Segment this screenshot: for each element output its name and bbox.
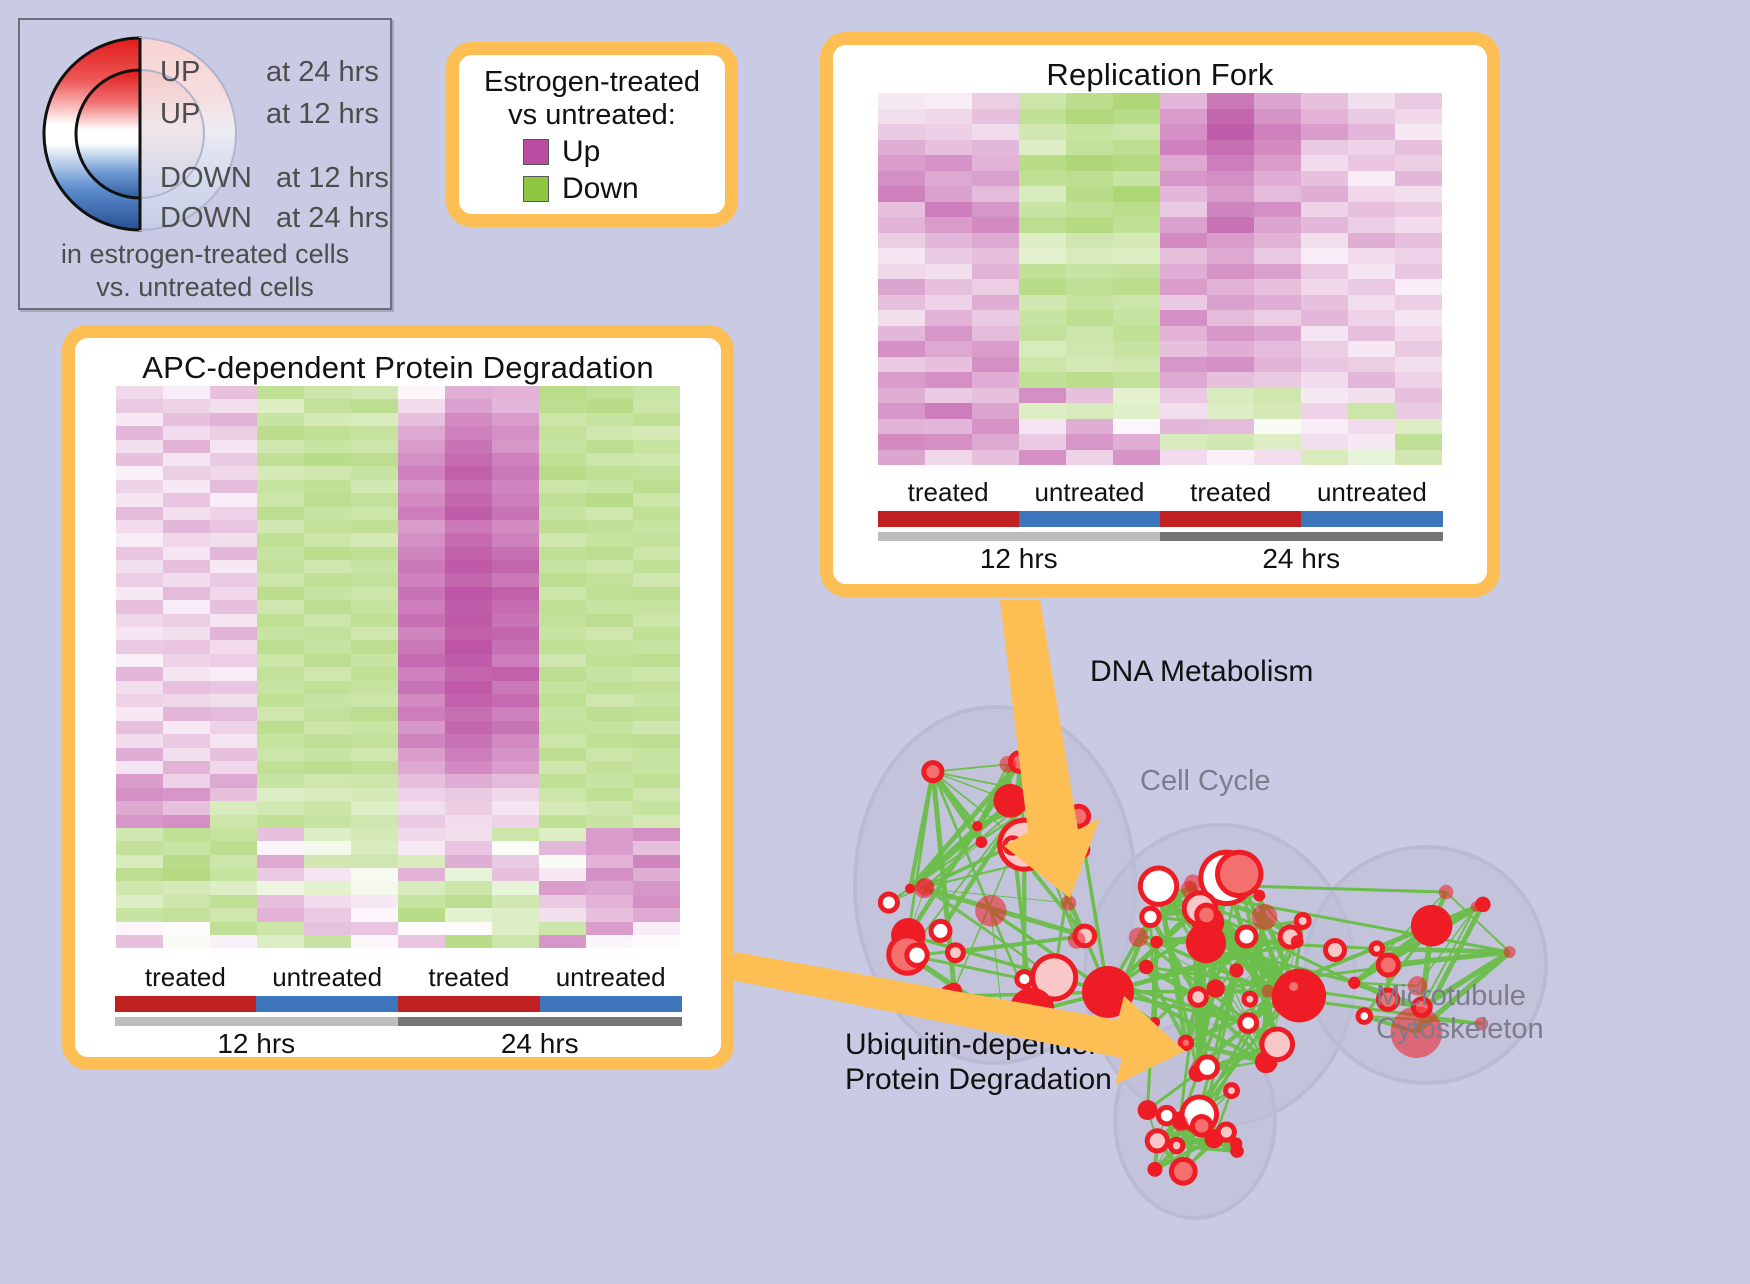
heat-cell xyxy=(586,801,633,814)
heat-cell xyxy=(1301,171,1348,187)
heat-cell xyxy=(304,667,351,680)
key-time-up-12: at 12 hrs xyxy=(266,98,379,131)
heat-cell xyxy=(304,520,351,533)
heat-cell xyxy=(257,573,304,586)
heat-cell xyxy=(878,341,925,357)
heat-cell xyxy=(351,788,398,801)
heat-cell xyxy=(1207,217,1254,233)
heat-cell xyxy=(398,788,445,801)
heat-cell xyxy=(1160,326,1207,342)
network-node-core xyxy=(1221,1126,1232,1137)
heat-cell xyxy=(210,547,257,560)
heat-cell xyxy=(116,774,163,787)
network-node-core xyxy=(1057,815,1068,826)
heat-cell xyxy=(539,614,586,627)
heat-cell xyxy=(116,573,163,586)
heat-cell xyxy=(1019,372,1066,388)
network-node-core xyxy=(883,897,895,909)
heat-cell xyxy=(163,828,210,841)
heat-cell xyxy=(539,573,586,586)
heat-cell xyxy=(163,694,210,707)
heat-cell xyxy=(1066,326,1113,342)
heat-cell xyxy=(1160,295,1207,311)
heat-cell xyxy=(398,399,445,412)
heat-cell xyxy=(163,453,210,466)
heat-cell xyxy=(539,466,586,479)
heat-cell xyxy=(633,841,680,854)
heat-cell xyxy=(539,774,586,787)
heat-cell xyxy=(1019,434,1066,450)
heat-cell xyxy=(304,908,351,921)
heat-cell xyxy=(445,681,492,694)
apc-time-colorbar xyxy=(115,1017,682,1026)
heat-cell xyxy=(925,124,972,140)
heat-cell xyxy=(163,788,210,801)
heat-cell xyxy=(633,654,680,667)
heat-cell xyxy=(1160,93,1207,109)
heat-cell xyxy=(925,279,972,295)
heat-cell xyxy=(1301,264,1348,280)
heat-cell xyxy=(1160,434,1207,450)
heat-cell xyxy=(210,627,257,640)
heat-cell xyxy=(1019,140,1066,156)
heat-cell xyxy=(116,828,163,841)
heat-cell xyxy=(163,774,210,787)
heat-cell xyxy=(492,453,539,466)
heat-cell xyxy=(210,855,257,868)
heat-cell xyxy=(210,520,257,533)
heat-cell xyxy=(539,627,586,640)
heat-cell xyxy=(1207,93,1254,109)
heat-cell xyxy=(878,450,925,466)
heat-cell xyxy=(304,815,351,828)
figure-canvas: UP at 24 hrs UP at 12 hrs DOWN at 12 hrs… xyxy=(0,0,1750,1279)
heat-cell xyxy=(351,426,398,439)
heat-cell xyxy=(1066,171,1113,187)
heat-cell xyxy=(878,186,925,202)
heat-cell xyxy=(257,667,304,680)
heat-cell xyxy=(445,453,492,466)
heat-cell xyxy=(1348,434,1395,450)
heat-cell xyxy=(1395,326,1442,342)
heat-cell xyxy=(351,801,398,814)
heat-cell xyxy=(878,217,925,233)
heat-cell xyxy=(398,681,445,694)
heat-cell xyxy=(445,640,492,653)
heat-cell xyxy=(1395,124,1442,140)
heat-cell xyxy=(304,761,351,774)
heat-cell xyxy=(1207,124,1254,140)
legend-item-down: Down xyxy=(523,172,725,206)
heat-cell xyxy=(210,721,257,734)
heat-cell xyxy=(210,681,257,694)
heat-cell xyxy=(398,922,445,935)
heat-cell xyxy=(116,413,163,426)
heat-cell xyxy=(1348,248,1395,264)
heat-cell xyxy=(210,801,257,814)
heat-cell xyxy=(116,815,163,828)
network-node xyxy=(905,884,915,894)
network-node xyxy=(1149,1017,1160,1028)
heat-cell xyxy=(972,388,1019,404)
key-label-down-12: DOWN xyxy=(160,162,252,195)
heat-cell xyxy=(1254,403,1301,419)
network-node xyxy=(1068,931,1085,948)
heat-cell xyxy=(398,908,445,921)
heat-cell xyxy=(163,841,210,854)
heat-cell xyxy=(163,413,210,426)
heat-cell xyxy=(1348,388,1395,404)
heat-cell xyxy=(492,587,539,600)
heat-cell xyxy=(586,908,633,921)
heat-cell xyxy=(210,587,257,600)
heat-cell xyxy=(1301,403,1348,419)
heat-cell xyxy=(398,466,445,479)
network-node xyxy=(1230,1144,1244,1158)
heat-cell xyxy=(1395,279,1442,295)
heat-cell xyxy=(1348,419,1395,435)
heat-cell xyxy=(1019,202,1066,218)
heat-cell xyxy=(398,440,445,453)
heat-cell xyxy=(351,881,398,894)
heat-cell xyxy=(539,654,586,667)
heat-cell xyxy=(633,426,680,439)
heat-cell xyxy=(398,935,445,948)
heat-cell xyxy=(116,640,163,653)
heat-cell xyxy=(1066,279,1113,295)
heat-cell xyxy=(351,587,398,600)
heat-cell xyxy=(1254,341,1301,357)
heat-cell xyxy=(1395,295,1442,311)
network-node xyxy=(1252,904,1278,930)
heat-cell xyxy=(1207,186,1254,202)
heat-cell xyxy=(1019,295,1066,311)
network-node xyxy=(1129,927,1149,947)
legend-panel: Estrogen-treated vs untreated: Up Down xyxy=(446,42,738,227)
heat-cell xyxy=(972,357,1019,373)
heat-cell xyxy=(304,386,351,399)
network-node xyxy=(1186,923,1226,963)
heat-cell xyxy=(539,815,586,828)
heat-cell xyxy=(304,868,351,881)
heat-cell xyxy=(445,493,492,506)
heat-cell xyxy=(1254,109,1301,125)
heat-cell xyxy=(210,908,257,921)
heat-cell xyxy=(116,533,163,546)
heat-cell xyxy=(972,124,1019,140)
heat-cell xyxy=(351,667,398,680)
heat-cell xyxy=(1113,202,1160,218)
heat-cell xyxy=(539,855,586,868)
heat-cell xyxy=(492,841,539,854)
heat-cell xyxy=(539,507,586,520)
heat-cell xyxy=(539,935,586,948)
heat-cell xyxy=(1019,450,1066,466)
rep-group-label-0: treated xyxy=(878,477,1019,508)
apc-time-label-24: 24 hrs xyxy=(398,1028,682,1060)
heat-cell xyxy=(398,547,445,560)
heat-cell xyxy=(1301,217,1348,233)
network-node xyxy=(1172,1115,1188,1131)
heat-cell xyxy=(1254,124,1301,140)
heat-cell xyxy=(163,801,210,814)
heat-cell xyxy=(351,774,398,787)
heat-cell xyxy=(1066,310,1113,326)
heat-cell xyxy=(304,774,351,787)
apc-group-label-2: treated xyxy=(398,962,540,993)
heat-cell xyxy=(351,922,398,935)
heat-cell xyxy=(1019,109,1066,125)
heat-cell xyxy=(539,908,586,921)
heat-cell xyxy=(445,614,492,627)
heat-cell xyxy=(304,681,351,694)
heat-cell xyxy=(445,547,492,560)
heat-cell xyxy=(257,493,304,506)
heat-cell xyxy=(163,748,210,761)
rep-group-label-1: untreated xyxy=(1019,477,1160,508)
heat-cell xyxy=(972,295,1019,311)
heat-cell xyxy=(304,721,351,734)
heat-cell xyxy=(210,413,257,426)
heat-cell xyxy=(257,707,304,720)
heat-cell xyxy=(257,761,304,774)
heat-cell xyxy=(1019,357,1066,373)
heat-cell xyxy=(304,493,351,506)
heat-cell xyxy=(1348,93,1395,109)
network-node-core xyxy=(1192,991,1204,1003)
heat-cell xyxy=(586,493,633,506)
heat-cell xyxy=(1301,124,1348,140)
heat-cell xyxy=(1113,310,1160,326)
heat-cell xyxy=(257,681,304,694)
heat-cell xyxy=(116,734,163,747)
heat-cell xyxy=(1019,171,1066,187)
heat-cell xyxy=(210,560,257,573)
network-node-core xyxy=(1047,778,1055,786)
heat-cell xyxy=(633,908,680,921)
heat-cell xyxy=(539,640,586,653)
heat-cell xyxy=(351,748,398,761)
heat-cell xyxy=(1395,357,1442,373)
heat-cell xyxy=(1254,295,1301,311)
network-node xyxy=(1009,988,1054,1033)
heat-cell xyxy=(398,426,445,439)
heat-cell xyxy=(925,326,972,342)
heat-cell xyxy=(1348,341,1395,357)
heat-cell xyxy=(925,248,972,264)
heat-cell xyxy=(210,935,257,948)
heat-cell xyxy=(304,707,351,720)
heat-cell xyxy=(210,761,257,774)
network-node-core xyxy=(1264,1031,1290,1057)
network-node-core xyxy=(1374,945,1380,951)
heat-cell xyxy=(1301,326,1348,342)
heat-cell xyxy=(1207,357,1254,373)
heat-cell xyxy=(586,694,633,707)
network-node-core xyxy=(1043,790,1053,800)
network-node xyxy=(915,879,934,898)
apc-bar-treated-12 xyxy=(115,996,257,1012)
heat-cell xyxy=(351,386,398,399)
heat-cell xyxy=(972,434,1019,450)
heat-cell xyxy=(539,694,586,707)
heat-cell xyxy=(925,233,972,249)
heat-cell xyxy=(586,868,633,881)
heat-cell xyxy=(1301,450,1348,466)
heat-cell xyxy=(445,908,492,921)
network-node xyxy=(1138,1100,1158,1120)
heat-cell xyxy=(1160,202,1207,218)
heat-cell xyxy=(257,881,304,894)
heat-cell xyxy=(398,748,445,761)
heat-cell xyxy=(1254,357,1301,373)
heat-cell xyxy=(1160,264,1207,280)
heat-cell xyxy=(1254,279,1301,295)
heat-cell xyxy=(925,171,972,187)
heat-cell xyxy=(1254,372,1301,388)
heat-cell xyxy=(492,466,539,479)
rep-group-colorbar xyxy=(878,511,1443,527)
heat-cell xyxy=(445,721,492,734)
heat-cell xyxy=(539,426,586,439)
heat-cell xyxy=(257,841,304,854)
heat-cell xyxy=(398,801,445,814)
heat-cell xyxy=(1207,264,1254,280)
heat-cell xyxy=(116,707,163,720)
legend-heading-line1: Estrogen-treated xyxy=(459,66,725,99)
heat-cell xyxy=(1113,124,1160,140)
heat-cell xyxy=(586,573,633,586)
heat-cell xyxy=(1113,388,1160,404)
heat-cell xyxy=(257,774,304,787)
network-node xyxy=(947,983,962,998)
heat-cell xyxy=(1066,155,1113,171)
heat-cell xyxy=(398,386,445,399)
heat-cell xyxy=(586,587,633,600)
heat-cell xyxy=(633,801,680,814)
heat-cell xyxy=(633,640,680,653)
heat-cell xyxy=(445,440,492,453)
network-node-core xyxy=(1071,809,1086,824)
heat-cell xyxy=(1160,171,1207,187)
heat-cell xyxy=(1301,202,1348,218)
heat-cell xyxy=(925,264,972,280)
rep-group-labels: treated untreated treated untreated xyxy=(878,477,1443,508)
heat-cell xyxy=(1160,155,1207,171)
heat-cell xyxy=(633,627,680,640)
heat-cell xyxy=(586,922,633,935)
heat-cell xyxy=(304,828,351,841)
heat-cell xyxy=(445,881,492,894)
heat-cell xyxy=(445,855,492,868)
heat-cell xyxy=(1254,248,1301,264)
heat-cell xyxy=(351,935,398,948)
heat-cell xyxy=(925,109,972,125)
heat-cell xyxy=(1066,357,1113,373)
network-node-core xyxy=(1220,855,1258,893)
heat-cell xyxy=(351,761,398,774)
heat-cell xyxy=(398,721,445,734)
heat-cell xyxy=(1066,434,1113,450)
heat-cell xyxy=(304,627,351,640)
heat-cell xyxy=(304,801,351,814)
network-node xyxy=(1256,1056,1268,1068)
heat-cell xyxy=(1348,109,1395,125)
heat-cell xyxy=(398,774,445,787)
heat-cell xyxy=(972,155,1019,171)
heat-cell xyxy=(257,587,304,600)
heat-cell xyxy=(492,480,539,493)
network-node xyxy=(1150,936,1163,949)
heat-cell xyxy=(633,774,680,787)
key-label-up-24: UP xyxy=(160,56,200,89)
heat-cell xyxy=(210,895,257,908)
heat-cell xyxy=(116,681,163,694)
rep-group-label-2: treated xyxy=(1160,477,1301,508)
heat-cell xyxy=(492,654,539,667)
heat-cell xyxy=(1160,310,1207,326)
heat-cell xyxy=(633,881,680,894)
heat-cell xyxy=(633,573,680,586)
heat-cell xyxy=(304,788,351,801)
heat-cell xyxy=(304,453,351,466)
heat-cell xyxy=(445,935,492,948)
network-node xyxy=(1139,960,1154,975)
heat-cell xyxy=(492,640,539,653)
heat-cell xyxy=(1066,186,1113,202)
heat-cell xyxy=(1348,202,1395,218)
network-node-core xyxy=(1381,957,1396,972)
heat-cell xyxy=(878,140,925,156)
heat-cell xyxy=(163,895,210,908)
heat-cell xyxy=(351,507,398,520)
replication-fork-title: Replication Fork xyxy=(833,57,1487,93)
heat-cell xyxy=(398,533,445,546)
heat-cell xyxy=(1395,264,1442,280)
heat-cell xyxy=(210,774,257,787)
heat-cell xyxy=(586,654,633,667)
heat-cell xyxy=(492,681,539,694)
heat-cell xyxy=(633,761,680,774)
heat-cell xyxy=(116,788,163,801)
heat-cell xyxy=(445,587,492,600)
heat-cell xyxy=(210,614,257,627)
heat-cell xyxy=(586,600,633,613)
heat-cell xyxy=(210,881,257,894)
key-label-down-24: DOWN xyxy=(160,202,252,235)
heat-cell xyxy=(878,419,925,435)
heat-cell xyxy=(492,426,539,439)
heat-cell xyxy=(1395,434,1442,450)
heat-cell xyxy=(1395,217,1442,233)
heat-cell xyxy=(539,480,586,493)
apc-degradation-panel: APC-dependent Protein Degradation treate… xyxy=(62,325,734,1070)
apc-heatmap xyxy=(116,386,680,948)
heat-cell xyxy=(304,935,351,948)
cluster-label-ubiquitin-protein-degradation: Ubiquitin-dependent Protein Degradation xyxy=(845,1028,1114,1097)
heat-cell xyxy=(586,480,633,493)
heat-cell xyxy=(351,520,398,533)
heat-cell xyxy=(539,734,586,747)
heat-cell xyxy=(1254,450,1301,466)
heat-cell xyxy=(878,279,925,295)
network-node xyxy=(1348,977,1360,989)
heat-cell xyxy=(539,386,586,399)
heat-cell xyxy=(1113,372,1160,388)
heat-cell xyxy=(351,640,398,653)
heat-cell xyxy=(398,480,445,493)
heat-cell xyxy=(1160,419,1207,435)
